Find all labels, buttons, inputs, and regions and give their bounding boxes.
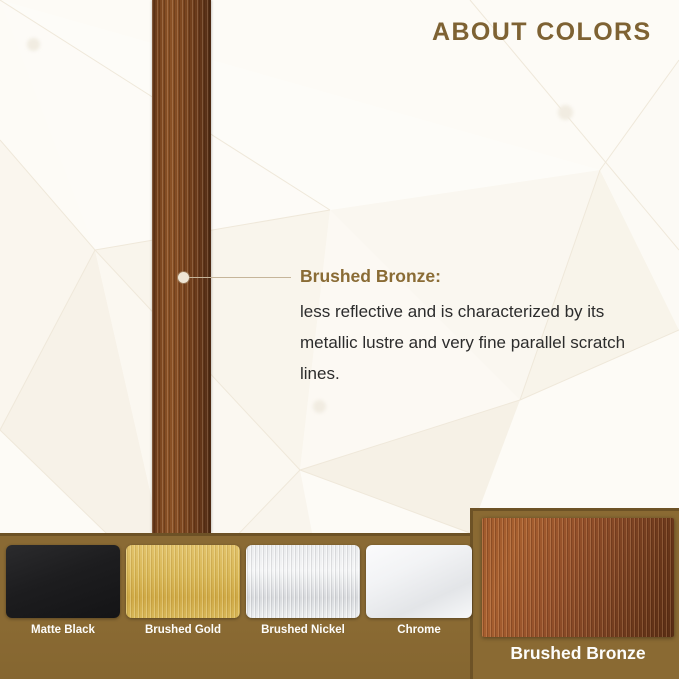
swatch-brushed-nickel[interactable] xyxy=(246,545,360,618)
swatch-label-chrome: Chrome xyxy=(366,624,472,636)
infographic-canvas: ABOUT COLORS Brushed Bronze: less reflec… xyxy=(0,0,679,679)
swatch-label-matte-black: Matte Black xyxy=(6,624,120,636)
swatch-brushed-gold[interactable] xyxy=(126,545,240,618)
swatch-brushed-bronze[interactable] xyxy=(482,518,674,637)
swatch-matte-black[interactable] xyxy=(6,545,120,618)
callout-leader-line xyxy=(188,277,291,278)
page-title: ABOUT COLORS xyxy=(432,18,652,47)
background-dot-mid-right xyxy=(313,400,326,413)
product-bronze-strip xyxy=(152,0,211,533)
background-dot-top-right xyxy=(558,105,573,120)
background-dot-top-left xyxy=(27,38,40,51)
callout-body-text: less reflective and is characterized by … xyxy=(300,296,660,389)
callout-heading: Brushed Bronze: xyxy=(300,266,441,287)
callout-marker-dot xyxy=(178,272,189,283)
swatch-label-brushed-nickel: Brushed Nickel xyxy=(246,624,360,636)
swatch-label-brushed-bronze: Brushed Bronze xyxy=(482,643,674,664)
swatch-label-brushed-gold: Brushed Gold xyxy=(126,624,240,636)
swatch-chrome[interactable] xyxy=(366,545,472,618)
